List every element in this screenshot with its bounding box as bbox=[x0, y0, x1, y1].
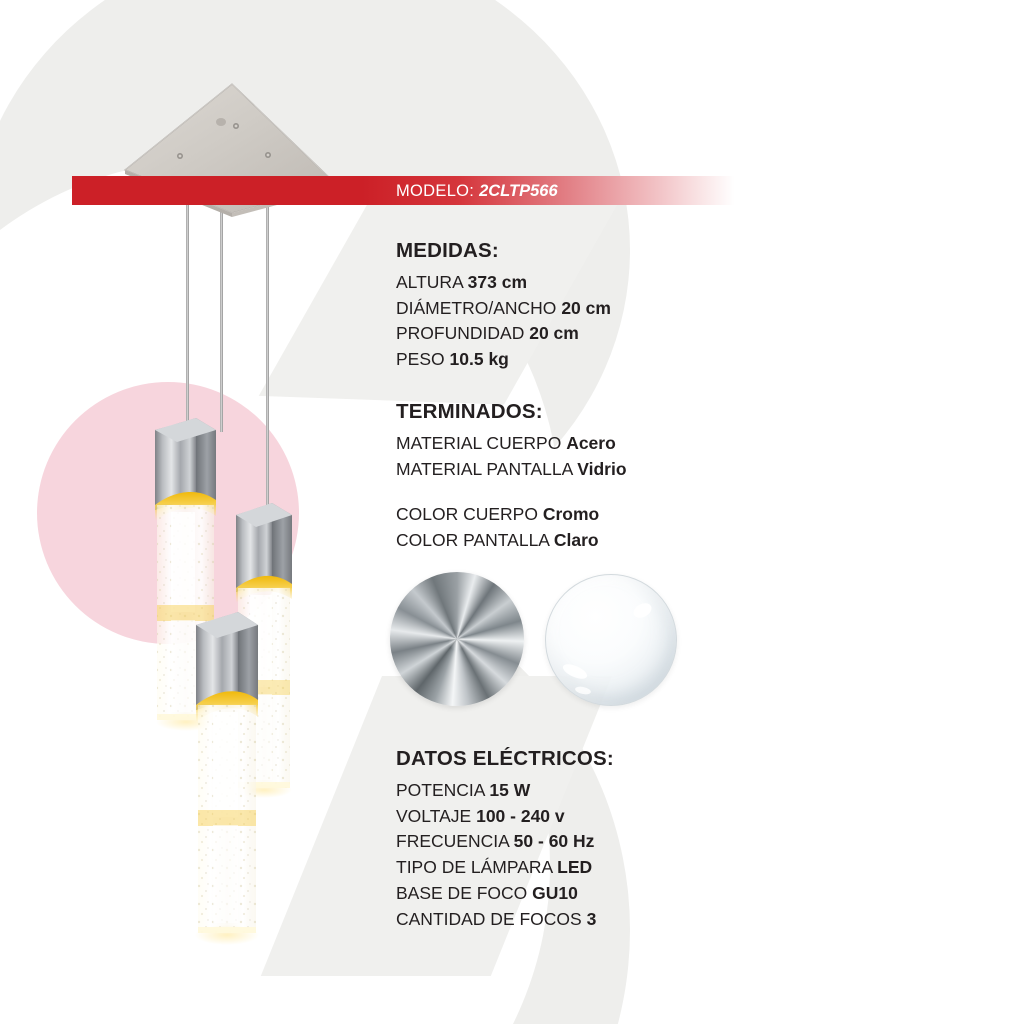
spec-label: VOLTAJE bbox=[396, 806, 471, 826]
spec-label: FRECUENCIA bbox=[396, 831, 509, 851]
spec-label: COLOR CUERPO bbox=[396, 504, 538, 524]
spec-label: PROFUNDIDAD bbox=[396, 323, 524, 343]
model-label: MODELO: bbox=[396, 182, 474, 200]
spec-value: 10.5 kg bbox=[450, 349, 509, 369]
color-swatches bbox=[390, 572, 690, 692]
spec-row-cantidad-focos: CANTIDAD DE FOCOS 3 bbox=[396, 907, 826, 933]
spec-label: DIÁMETRO/ANCHO bbox=[396, 298, 556, 318]
product-image-pendant-lamp bbox=[0, 0, 430, 1024]
spec-label: PESO bbox=[396, 349, 445, 369]
model-banner-text: MODELO: 2CLTP566 bbox=[396, 179, 558, 203]
spec-row-material-cuerpo: MATERIAL CUERPO Acero bbox=[396, 431, 826, 457]
spec-label: CANTIDAD DE FOCOS bbox=[396, 909, 582, 929]
spec-label: ALTURA bbox=[396, 272, 463, 292]
spec-row-altura: ALTURA 373 cm bbox=[396, 270, 826, 296]
clear-glass-swatch bbox=[545, 574, 677, 706]
spec-label: MATERIAL PANTALLA bbox=[396, 459, 572, 479]
spec-value: LED bbox=[557, 857, 592, 877]
spec-row-potencia: POTENCIA 15 W bbox=[396, 778, 826, 804]
spec-label: BASE DE FOCO bbox=[396, 883, 527, 903]
spec-value: 373 cm bbox=[468, 272, 527, 292]
spec-label: POTENCIA bbox=[396, 780, 485, 800]
section-terminados: TERMINADOS: MATERIAL CUERPO Acero MATERI… bbox=[396, 399, 826, 554]
terminados-heading: TERMINADOS: bbox=[396, 399, 826, 424]
spec-value: 100 - 240 v bbox=[476, 806, 565, 826]
spec-row-profundidad: PROFUNDIDAD 20 cm bbox=[396, 321, 826, 347]
section-medidas: MEDIDAS: ALTURA 373 cm DIÁMETRO/ANCHO 20… bbox=[396, 238, 826, 373]
spacer bbox=[396, 482, 826, 502]
spec-row-frecuencia: FRECUENCIA 50 - 60 Hz bbox=[396, 829, 826, 855]
spec-value: Cromo bbox=[543, 504, 599, 524]
spec-row-voltaje: VOLTAJE 100 - 240 v bbox=[396, 804, 826, 830]
spec-row-peso: PESO 10.5 kg bbox=[396, 347, 826, 373]
spec-row-material-pantalla: MATERIAL PANTALLA Vidrio bbox=[396, 457, 826, 483]
spec-row-diametro: DIÁMETRO/ANCHO 20 cm bbox=[396, 296, 826, 322]
chrome-swatch bbox=[390, 572, 524, 706]
glass-highlight-icon bbox=[631, 600, 654, 620]
spec-value: 20 cm bbox=[529, 323, 579, 343]
spec-row-base-foco: BASE DE FOCO GU10 bbox=[396, 881, 826, 907]
glass-highlight-icon bbox=[560, 661, 588, 682]
glass-highlight-icon bbox=[574, 685, 591, 695]
spec-value: 50 - 60 Hz bbox=[514, 831, 595, 851]
spec-value: 20 cm bbox=[561, 298, 611, 318]
spec-value: 3 bbox=[587, 909, 597, 929]
spec-value: 15 W bbox=[489, 780, 530, 800]
spec-value: GU10 bbox=[532, 883, 578, 903]
spec-value: Claro bbox=[554, 530, 599, 550]
spec-row-color-pantalla: COLOR PANTALLA Claro bbox=[396, 528, 826, 554]
product-spec-sheet: MODELO: 2CLTP566 MEDIDAS: ALTURA 373 cm … bbox=[0, 0, 1024, 1024]
spec-label: MATERIAL CUERPO bbox=[396, 433, 561, 453]
spec-label: COLOR PANTALLA bbox=[396, 530, 549, 550]
model-code: 2CLTP566 bbox=[479, 182, 558, 200]
spec-value: Vidrio bbox=[577, 459, 626, 479]
section-datos-electricos: DATOS ELÉCTRICOS: POTENCIA 15 W VOLTAJE … bbox=[396, 746, 826, 932]
spec-row-tipo-lampara: TIPO DE LÁMPARA LED bbox=[396, 855, 826, 881]
datos-electricos-heading: DATOS ELÉCTRICOS: bbox=[396, 746, 826, 771]
spec-label: TIPO DE LÁMPARA bbox=[396, 857, 552, 877]
pendant-light-3 bbox=[195, 612, 259, 945]
specifications-column: MEDIDAS: ALTURA 373 cm DIÁMETRO/ANCHO 20… bbox=[396, 238, 826, 554]
spec-value: Acero bbox=[566, 433, 616, 453]
spec-row-color-cuerpo: COLOR CUERPO Cromo bbox=[396, 502, 826, 528]
medidas-heading: MEDIDAS: bbox=[396, 238, 826, 263]
